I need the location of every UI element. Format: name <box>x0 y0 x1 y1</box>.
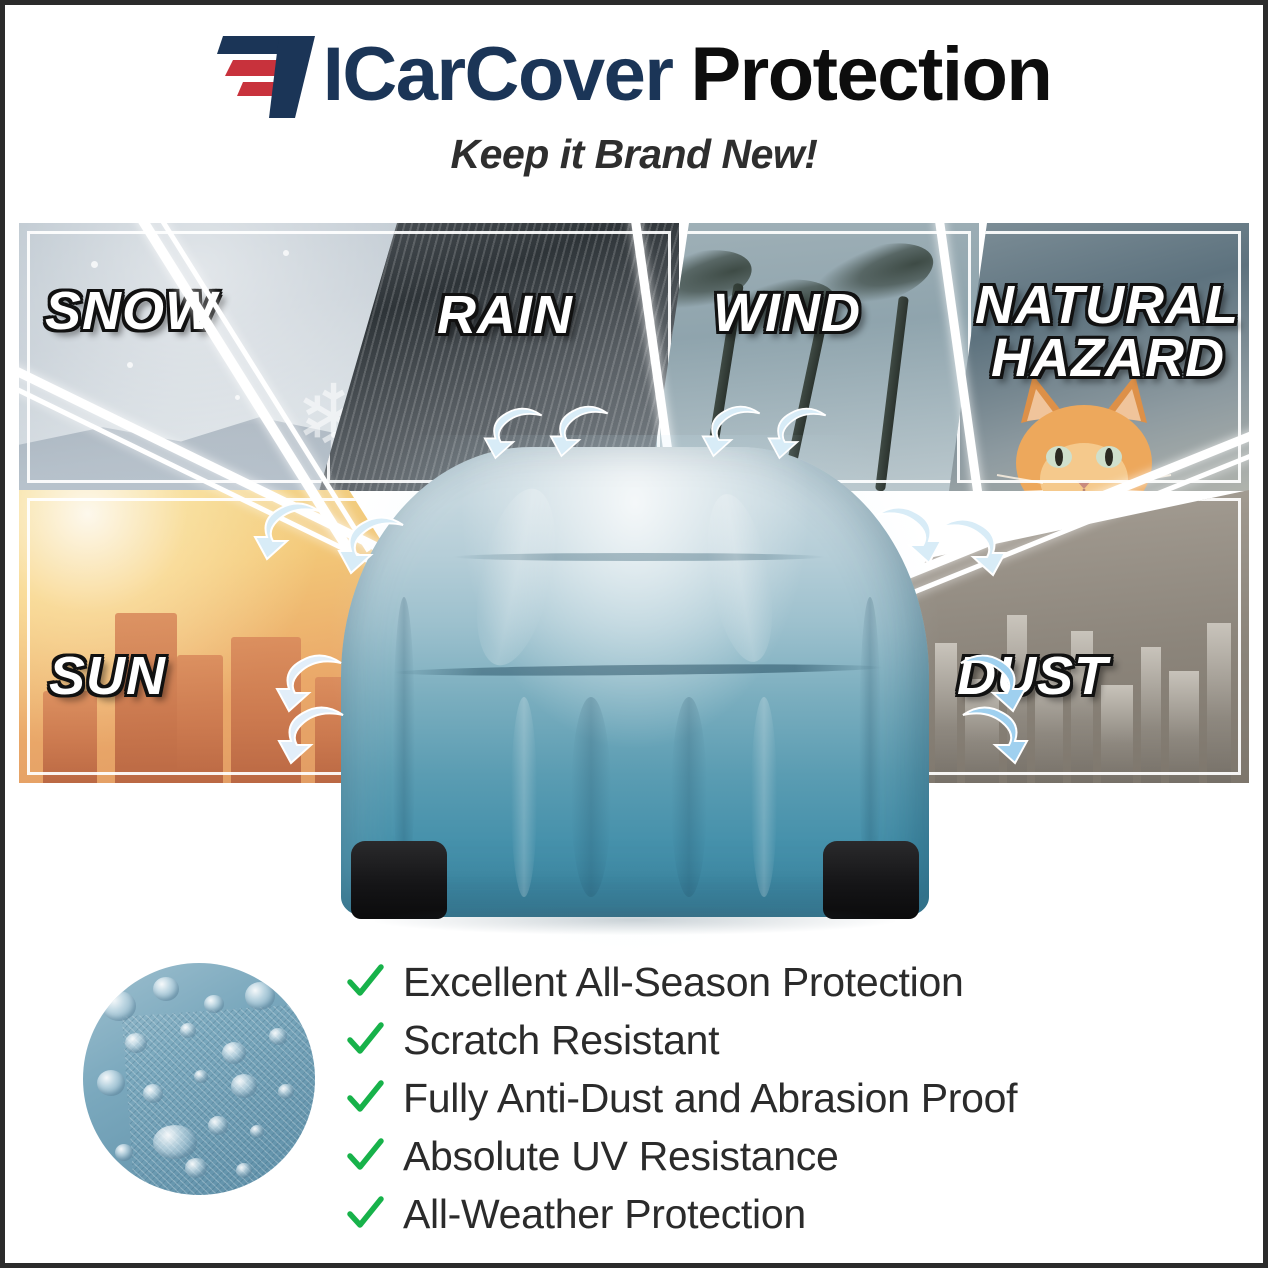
feature-label: Scratch Resistant <box>403 1017 719 1064</box>
brand-row: ICarCover Protection <box>5 27 1263 123</box>
orange-cat-illustration <box>979 371 1189 491</box>
deflection-arrow-icon <box>549 403 613 461</box>
panel-label-sun: SUN <box>49 650 166 703</box>
water-beading-photo <box>83 963 315 1195</box>
desert-mesa <box>177 655 223 783</box>
feature-item: Excellent All-Season Protection <box>345 953 1205 1011</box>
feature-item: All-Weather Protection <box>345 1185 1205 1243</box>
tagline: Keep it Brand New! <box>5 131 1263 178</box>
check-icon <box>345 1078 385 1118</box>
brand-name-secondary: Protection <box>690 32 1051 118</box>
panel-label-rain: RAIN <box>437 289 573 342</box>
feature-item: Scratch Resistant <box>345 1011 1205 1069</box>
check-icon <box>345 962 385 1002</box>
infographic-page: ICarCover Protection Keep it Brand New! … <box>0 0 1268 1268</box>
deflection-arrow-icon <box>253 501 325 563</box>
header: ICarCover Protection Keep it Brand New! <box>5 27 1263 178</box>
deflection-arrow-icon <box>701 403 765 461</box>
panel-label-natural-hazard: NATURAL HAZARD <box>975 279 1225 385</box>
icarcover-flag-logo-icon <box>217 32 321 118</box>
covered-car-image <box>335 441 935 941</box>
deflection-arrow-icon <box>337 515 409 577</box>
deflection-arrow-icon <box>277 705 349 767</box>
deflection-arrow-icon <box>957 705 1029 767</box>
feature-item: Fully Anti-Dust and Abrasion Proof <box>345 1069 1205 1127</box>
panel-label-wind: WIND <box>713 287 861 340</box>
water-beading-swatch <box>73 953 325 1205</box>
panel-hazard: NATURAL HAZARD <box>949 223 1249 491</box>
car-ground-shadow <box>375 905 895 935</box>
check-icon <box>345 1194 385 1234</box>
deflection-arrow-icon <box>767 405 831 463</box>
deflection-arrow-icon <box>483 405 547 463</box>
hood-seam <box>393 662 883 677</box>
panel-label-snow: SNOW <box>45 285 217 338</box>
feature-label: Fully Anti-Dust and Abrasion Proof <box>403 1075 1017 1122</box>
feature-label: Excellent All-Season Protection <box>403 959 963 1006</box>
feature-label: Absolute UV Resistance <box>403 1133 839 1180</box>
check-icon <box>345 1020 385 1060</box>
check-icon <box>345 1136 385 1176</box>
deflection-arrow-icon <box>935 517 1007 579</box>
features-list: Excellent All-Season Protection Scratch … <box>345 953 1205 1243</box>
deflection-arrow-icon <box>871 505 943 567</box>
feature-item: Absolute UV Resistance <box>345 1127 1205 1185</box>
feature-label: All-Weather Protection <box>403 1191 806 1238</box>
brand-name-navy: ICarCover <box>323 32 673 118</box>
